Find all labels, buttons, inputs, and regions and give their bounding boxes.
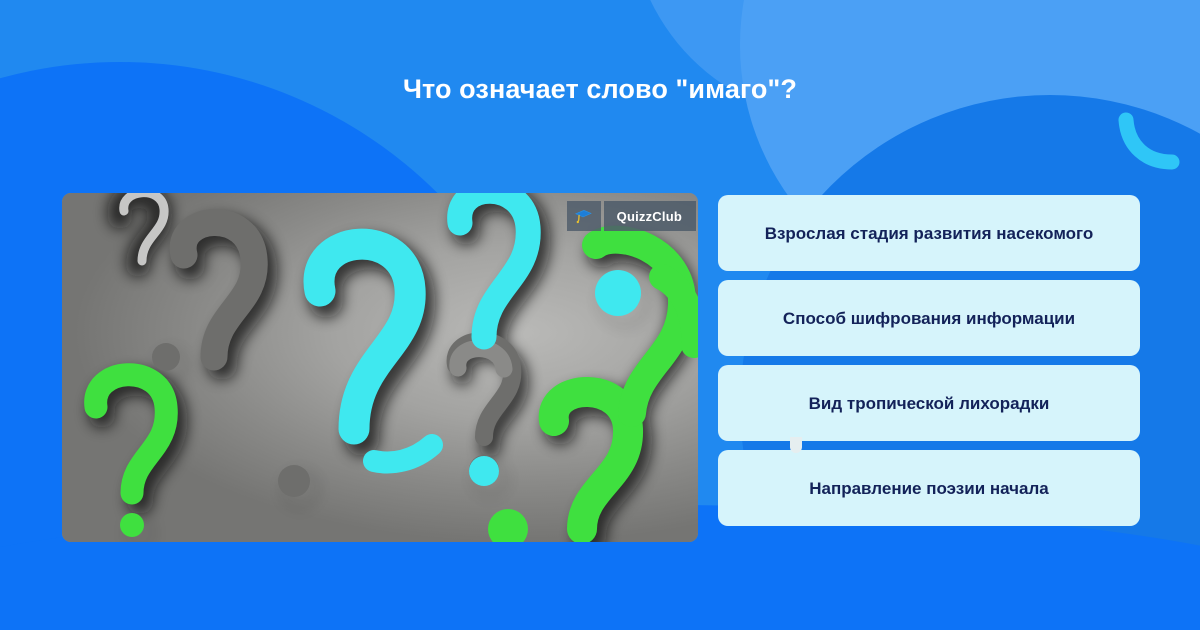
graduation-cap-icon bbox=[567, 201, 601, 231]
answer-option-4[interactable]: Направление поэзии начала bbox=[718, 450, 1140, 526]
answer-option-1[interactable]: Взрослая стадия развития насекомого bbox=[718, 195, 1140, 271]
answer-option-3[interactable]: Вид тропической лихорадки bbox=[718, 365, 1140, 441]
answer-option-4-label: Направление поэзии начала bbox=[809, 476, 1049, 501]
option-divider-notch bbox=[790, 437, 802, 453]
answer-options-list: Взрослая стадия развития насекомого Спос… bbox=[718, 195, 1140, 526]
answer-option-3-label: Вид тропической лихорадки bbox=[809, 391, 1050, 416]
answer-option-2-label: Способ шифрования информации bbox=[783, 306, 1075, 331]
watermark-badge: QuizzClub bbox=[567, 201, 696, 231]
page-title: Что означает слово "имаго"? bbox=[0, 72, 1200, 106]
cyan-swoosh-icon bbox=[1116, 112, 1186, 174]
quiz-card-page: Что означает слово "имаго"? bbox=[0, 0, 1200, 630]
answer-option-2[interactable]: Способ шифрования информации bbox=[718, 280, 1140, 356]
question-marks-artwork bbox=[62, 193, 698, 542]
watermark-label: QuizzClub bbox=[604, 201, 696, 231]
answer-option-1-label: Взрослая стадия развития насекомого bbox=[765, 221, 1094, 246]
question-image-card: QuizzClub bbox=[62, 193, 698, 542]
